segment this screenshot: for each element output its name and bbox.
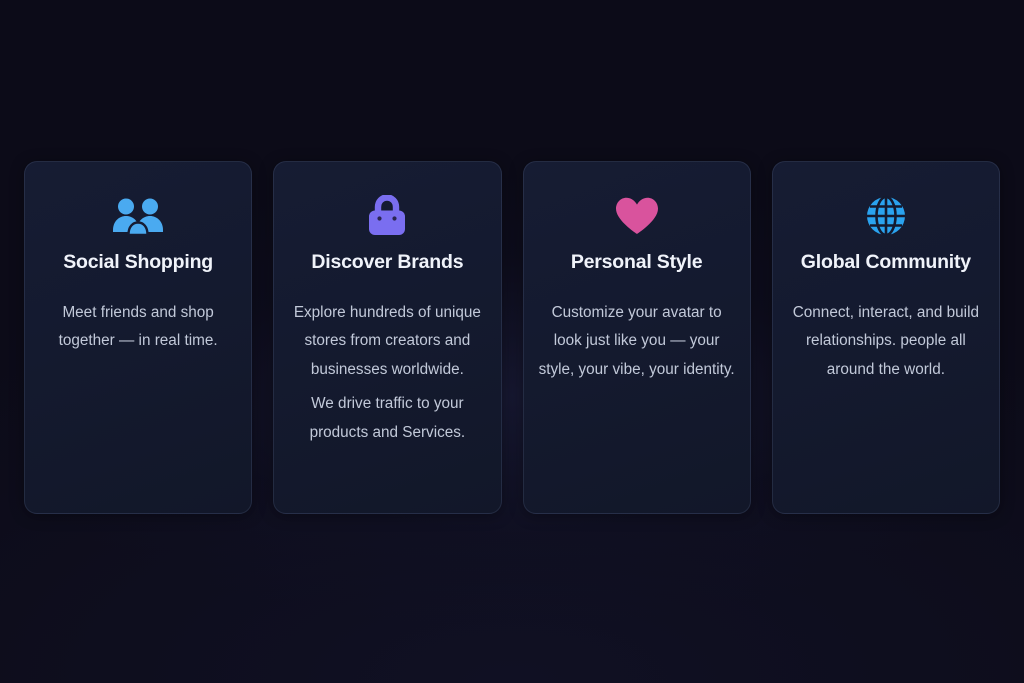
globe-icon [785,196,987,236]
card-description: Connect, interact, and build relationshi… [785,299,987,385]
card-description: Customize your avatar to look just like … [536,299,738,385]
feature-card-social-shopping[interactable]: Social Shopping Meet friends and shop to… [24,161,252,514]
card-paragraph: Meet friends and shop together — in real… [42,299,234,356]
feature-card-discover-brands[interactable]: Discover Brands Explore hundreds of uniq… [273,161,501,514]
card-description: Meet friends and shop together — in real… [37,299,239,356]
feature-cards-row: Social Shopping Meet friends and shop to… [24,161,1000,514]
card-title: Global Community [785,253,987,273]
card-paragraph: We drive traffic to your products and Se… [289,390,485,447]
card-title: Personal Style [536,253,738,273]
shopping-bag-icon [286,196,488,236]
people-icon [37,196,239,236]
card-paragraph: Customize your avatar to look just like … [539,299,735,385]
card-paragraph: Connect, interact, and build relationshi… [786,299,986,385]
heart-icon [536,196,738,236]
card-paragraph: Explore hundreds of unique stores from c… [289,299,485,385]
card-title: Discover Brands [286,253,488,273]
feature-card-personal-style[interactable]: Personal Style Customize your avatar to … [523,161,751,514]
card-description: Explore hundreds of unique stores from c… [286,299,488,448]
card-title: Social Shopping [37,253,239,273]
feature-card-global-community[interactable]: Global Community Connect, interact, and … [772,161,1000,514]
